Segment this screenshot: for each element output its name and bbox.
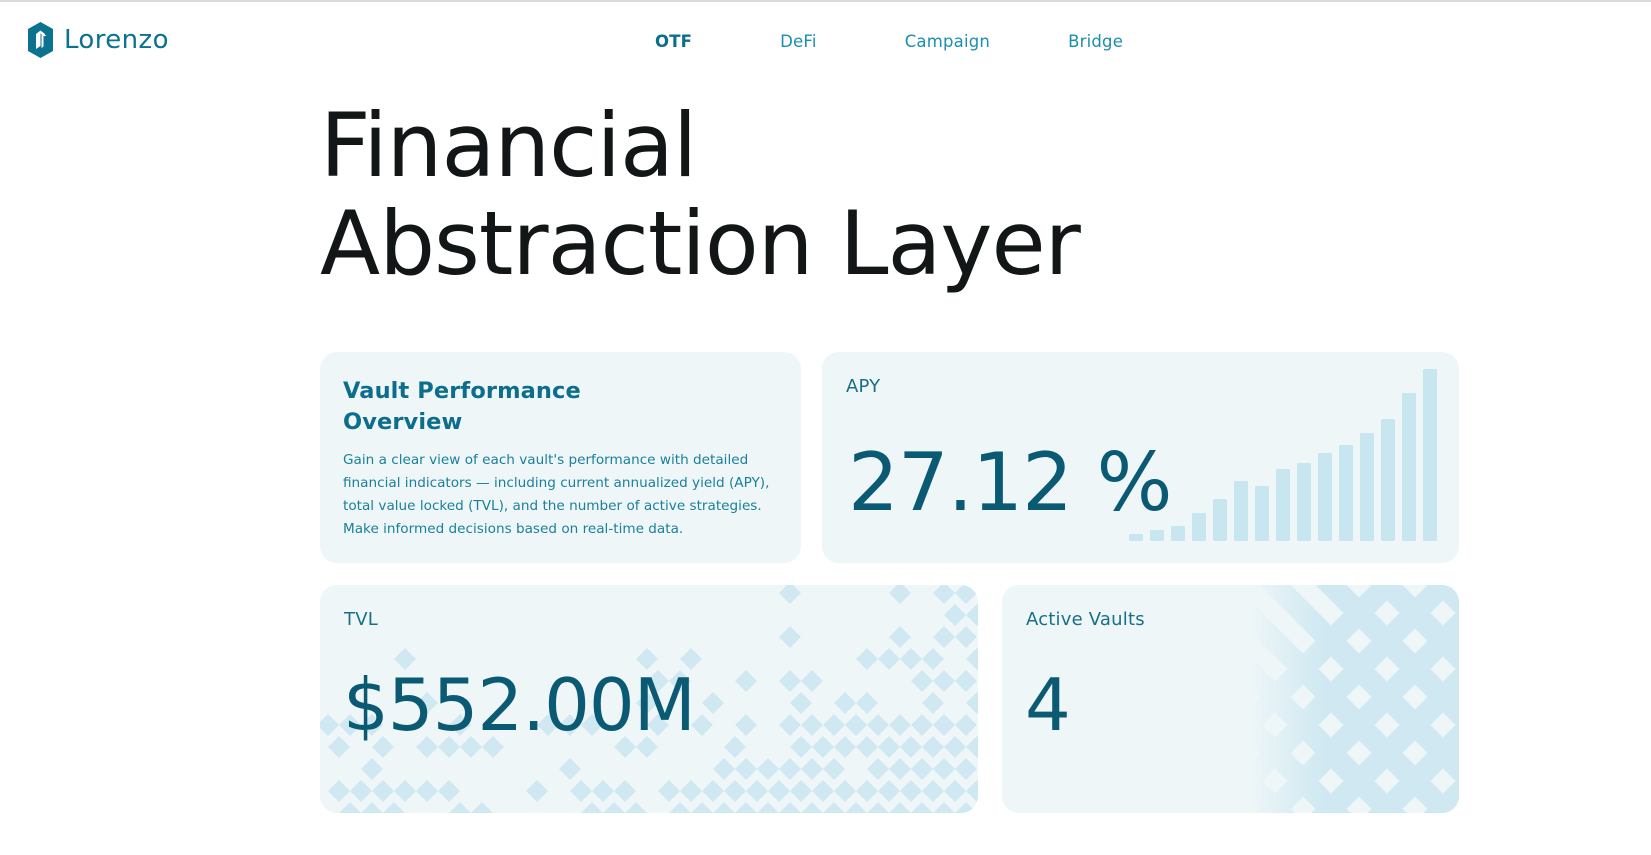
- pattern-diamond: [867, 758, 889, 780]
- pattern-diamond: [779, 758, 801, 780]
- nav-item-defi[interactable]: DeFi: [780, 32, 817, 51]
- active-vaults-card-label: Active Vaults: [1026, 609, 1145, 630]
- pattern-diamond: [339, 802, 361, 813]
- bar-2: [1150, 530, 1164, 541]
- bar-5: [1213, 499, 1227, 541]
- pattern-diamond: [955, 585, 977, 604]
- pattern-diamond: [933, 758, 955, 780]
- pattern-diamond: [966, 648, 978, 670]
- pattern-diamond: [713, 802, 735, 813]
- pattern-diamond: [889, 758, 911, 780]
- pattern-diamond: [823, 714, 845, 736]
- pattern-diamond: [790, 736, 812, 758]
- bar-6: [1234, 481, 1248, 541]
- pattern-diamond: [856, 692, 878, 714]
- pattern-diamond: [801, 802, 823, 813]
- pattern-diamond: [680, 780, 702, 802]
- active-vaults-card: Active Vaults 4: [1002, 585, 1459, 813]
- pattern-diamond: [966, 780, 978, 802]
- brand-name: Lorenzo: [64, 25, 169, 55]
- pattern-diamond: [438, 780, 460, 802]
- pattern-diamond: [625, 802, 647, 813]
- pattern-diamond: [845, 802, 867, 813]
- hero-line-1: Financial: [320, 97, 1320, 195]
- pattern-diamond: [834, 692, 856, 714]
- pattern-diamond: [361, 758, 383, 780]
- main-nav: OTF DeFi Campaign Bridge: [655, 32, 1123, 51]
- pattern-diamond: [779, 585, 801, 604]
- pattern-diamond: [834, 736, 856, 758]
- vault-performance-title: Vault Performance Overview: [343, 376, 581, 438]
- pattern-diamond: [801, 758, 823, 780]
- pattern-diamond: [724, 780, 746, 802]
- vault-performance-card: Vault Performance Overview Gain a clear …: [320, 352, 801, 563]
- pattern-diamond: [922, 780, 944, 802]
- pattern-diamond: [867, 802, 889, 813]
- pattern-diamond: [966, 692, 978, 714]
- pattern-diamond: [394, 780, 416, 802]
- watermark-text: @ SanjiHunter - Crypto...: [1402, 821, 1641, 842]
- pattern-diamond: [933, 714, 955, 736]
- tvl-card: TVL $552.00M: [320, 585, 978, 813]
- nav-item-otf[interactable]: OTF: [655, 32, 692, 51]
- pattern-diamond: [735, 670, 757, 692]
- nav-item-campaign[interactable]: Campaign: [905, 32, 990, 51]
- pattern-diamond: [955, 802, 977, 813]
- pattern-diamond: [449, 802, 471, 813]
- bar-11: [1339, 445, 1353, 541]
- active-vaults-card-value: 4: [1025, 663, 1070, 747]
- pattern-diamond: [757, 802, 779, 813]
- pattern-diamond: [812, 736, 834, 758]
- bar-15: [1423, 369, 1437, 541]
- pattern-diamond: [933, 626, 955, 648]
- pattern-diamond: [779, 714, 801, 736]
- pattern-diamond: [867, 714, 889, 736]
- pattern-diamond: [614, 780, 636, 802]
- pattern-diamond: [823, 802, 845, 813]
- apy-card-value: 27.12 %: [848, 440, 1171, 526]
- pattern-diamond: [669, 802, 691, 813]
- pattern-diamond: [955, 626, 977, 648]
- pattern-diamond: [889, 802, 911, 813]
- pattern-diamond: [790, 780, 812, 802]
- site-header: Lorenzo OTF DeFi Campaign Bridge: [0, 2, 1651, 87]
- apy-card-label: APY: [846, 376, 880, 397]
- pattern-diamond: [845, 714, 867, 736]
- pattern-diamond: [823, 758, 845, 780]
- vault-title-line-1: Vault Performance: [343, 376, 581, 407]
- pattern-diamond: [691, 802, 713, 813]
- pattern-diamond: [350, 780, 372, 802]
- pattern-diamond: [889, 585, 911, 604]
- bar-12: [1360, 433, 1374, 541]
- page-root: Lorenzo OTF DeFi Campaign Bridge Financi…: [0, 0, 1651, 855]
- watermark: @ SanjiHunter - Crypto...: [1370, 819, 1641, 843]
- pattern-diamond: [966, 604, 978, 626]
- tvl-card-label: TVL: [344, 609, 378, 630]
- pattern-diamond: [955, 714, 977, 736]
- pattern-diamond: [900, 736, 922, 758]
- pattern-diamond: [801, 670, 823, 692]
- hero-line-2: Abstraction Layer: [320, 195, 1320, 293]
- nav-item-bridge[interactable]: Bridge: [1068, 32, 1123, 51]
- pattern-diamond: [735, 802, 757, 813]
- pattern-diamond: [383, 802, 405, 813]
- pattern-diamond: [702, 692, 724, 714]
- pattern-diamond: [658, 780, 680, 802]
- pattern-diamond: [328, 780, 350, 802]
- pattern-diamond: [933, 585, 955, 604]
- diamond-icon: [1370, 819, 1394, 843]
- pattern-diamond: [702, 780, 724, 802]
- pattern-diamond: [922, 736, 944, 758]
- pattern-diamond: [779, 670, 801, 692]
- pattern-diamond: [933, 802, 955, 813]
- pattern-diamond: [320, 714, 339, 736]
- pattern-diamond: [416, 780, 438, 802]
- pattern-diamond: [581, 802, 603, 813]
- lattice-strokes: [1159, 585, 1459, 813]
- pattern-diamond: [900, 780, 922, 802]
- pattern-diamond: [955, 670, 977, 692]
- pattern-diamond: [944, 736, 966, 758]
- pattern-diamond: [878, 648, 900, 670]
- pattern-diamond: [878, 780, 900, 802]
- pattern-diamond: [911, 670, 933, 692]
- pattern-diamond: [933, 670, 955, 692]
- bar-8: [1276, 469, 1290, 541]
- pattern-diamond: [966, 736, 978, 758]
- pattern-diamond: [922, 648, 944, 670]
- pattern-diamond: [779, 802, 801, 813]
- bar-3: [1171, 526, 1185, 541]
- bar-14: [1402, 393, 1416, 541]
- pattern-diamond: [900, 648, 922, 670]
- bar-1: [1129, 534, 1143, 541]
- pattern-diamond: [559, 758, 581, 780]
- bar-7: [1255, 486, 1269, 541]
- pattern-diamond: [856, 648, 878, 670]
- pattern-diamond: [735, 758, 757, 780]
- pattern-diamond: [856, 736, 878, 758]
- pattern-diamond: [713, 758, 735, 780]
- pattern-diamond: [889, 714, 911, 736]
- pattern-diamond: [724, 736, 746, 758]
- vault-title-line-2: Overview: [343, 407, 581, 438]
- pattern-diamond: [603, 802, 625, 813]
- bar-9: [1297, 463, 1311, 541]
- pattern-diamond: [757, 758, 779, 780]
- pattern-diamond: [889, 626, 911, 648]
- pattern-diamond: [746, 780, 768, 802]
- pattern-diamond: [911, 714, 933, 736]
- pattern-diamond: [471, 802, 493, 813]
- pattern-diamond: [779, 626, 801, 648]
- pattern-diamond: [911, 758, 933, 780]
- pattern-diamond: [570, 780, 592, 802]
- pattern-diamond: [922, 692, 944, 714]
- tvl-card-value: $552.00M: [343, 663, 695, 747]
- bar-13: [1381, 419, 1395, 541]
- pattern-diamond: [526, 780, 548, 802]
- pattern-diamond: [944, 780, 966, 802]
- vault-performance-description: Gain a clear view of each vault's perfor…: [343, 449, 777, 541]
- pattern-diamond: [856, 780, 878, 802]
- apy-card: APY 27.12 %: [822, 352, 1459, 563]
- pattern-diamond: [768, 780, 790, 802]
- pattern-diamond: [361, 802, 383, 813]
- pattern-diamond: [944, 604, 966, 626]
- lattice-pattern-decoration: [1159, 585, 1459, 813]
- bar-10: [1318, 453, 1332, 541]
- pattern-diamond: [834, 780, 856, 802]
- brand-logo[interactable]: Lorenzo: [28, 22, 169, 58]
- hero-heading: Financial Abstraction Layer: [320, 97, 1320, 293]
- lorenzo-logo-mark-icon: [28, 22, 53, 58]
- bar-4: [1192, 513, 1206, 541]
- pattern-diamond: [735, 714, 757, 736]
- pattern-diamond: [790, 692, 812, 714]
- pattern-diamond: [592, 780, 614, 802]
- pattern-diamond: [812, 780, 834, 802]
- pattern-diamond: [801, 714, 823, 736]
- pattern-diamond: [878, 736, 900, 758]
- pattern-diamond: [955, 758, 977, 780]
- pattern-diamond: [911, 802, 933, 813]
- pattern-diamond: [372, 780, 394, 802]
